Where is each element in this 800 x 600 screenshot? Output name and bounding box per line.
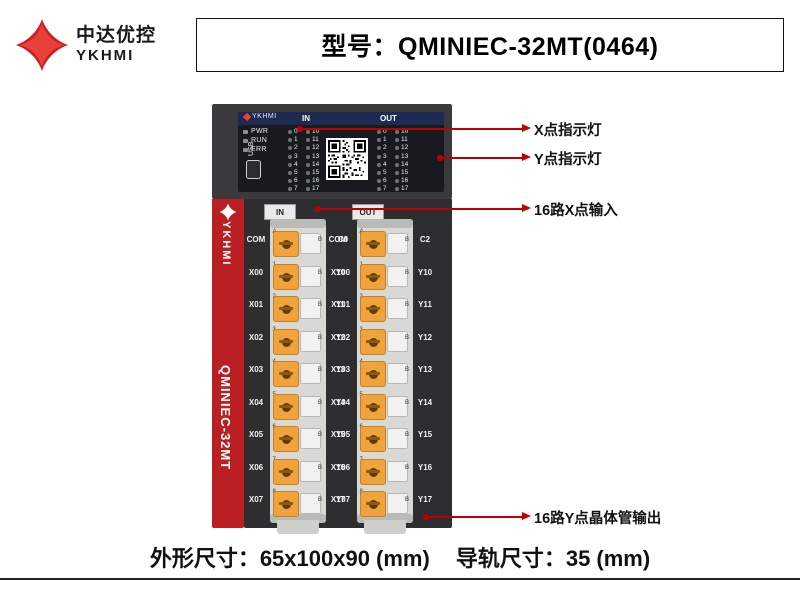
brand-name-cn: 中达优控	[76, 25, 156, 47]
led-indicator-row: 2	[286, 144, 298, 152]
led-number-label: 1	[383, 136, 387, 144]
led-indicator-row: 14	[393, 161, 408, 169]
led-indicator-row: 4	[286, 161, 298, 169]
terminal-screw-icon[interactable]	[360, 426, 386, 452]
led-indicator-row: 7	[286, 185, 298, 193]
led-dot-icon	[306, 146, 310, 150]
terminal-cap-top	[270, 219, 326, 228]
terminal-row[interactable]: AB	[360, 229, 410, 259]
terminal-screw-hole	[369, 468, 378, 477]
led-indicator-row: 3	[375, 153, 387, 161]
terminal-label: Y17	[412, 484, 438, 517]
callout-label: 16路X点输入	[534, 199, 618, 220]
terminal-label: Y05	[330, 419, 356, 452]
footer-divider	[0, 578, 800, 580]
led-number-label: 16	[312, 177, 319, 185]
led-number-label: 13	[312, 153, 319, 161]
terminal-row[interactable]: 1B	[360, 262, 410, 292]
terminal-screw-icon[interactable]	[360, 296, 386, 322]
terminal-row[interactable]: 2B	[360, 294, 410, 324]
led-dot-icon	[395, 163, 399, 167]
terminal-row[interactable]: 3B	[360, 327, 410, 357]
led-dot-icon	[288, 163, 292, 167]
ykhmi-flower-icon	[14, 17, 70, 73]
terminal-screw-icon[interactable]	[273, 426, 299, 452]
column-label-in: IN	[264, 204, 296, 220]
terminal-side-label: B	[318, 465, 322, 471]
terminal-screw-icon[interactable]	[360, 329, 386, 355]
device-red-side-strip: YKHMI QMINIEC-32MT	[212, 199, 244, 528]
terminal-label: X03	[243, 354, 269, 387]
terminal-row[interactable]: 4B	[360, 359, 410, 389]
display-header: YKHMI IN OUT	[238, 112, 444, 125]
led-indicator-row: 11	[304, 136, 319, 144]
callout-line	[318, 208, 522, 210]
led-dot-icon	[395, 130, 399, 134]
terminal-screw-hole	[369, 338, 378, 347]
terminal-screw-hole	[369, 435, 378, 444]
led-number-label: 6	[383, 177, 387, 185]
terminal-label: X02	[243, 322, 269, 355]
terminal-label: X07	[243, 484, 269, 517]
led-indicator-row: 1	[375, 136, 387, 144]
terminal-row[interactable]: 8B	[360, 489, 410, 519]
led-dot-icon	[288, 146, 292, 150]
terminal-label: Y11	[412, 289, 438, 322]
terminal-label: X01	[243, 289, 269, 322]
terminal-label: Y14	[412, 387, 438, 420]
led-dot-icon	[288, 130, 292, 134]
led-dot-icon	[395, 138, 399, 142]
led-number-label: 3	[294, 153, 298, 161]
terminal-side-label: B	[318, 270, 322, 276]
callout-arrow-icon	[522, 124, 531, 132]
terminal-screw-icon[interactable]	[273, 264, 299, 290]
led-number-label: 12	[312, 144, 319, 152]
led-indicator-row: 11	[393, 136, 408, 144]
din-rail-clip	[277, 520, 319, 534]
terminal-screw-hole	[369, 403, 378, 412]
terminal-row[interactable]: 4B	[273, 359, 323, 389]
terminal-screw-icon[interactable]	[273, 329, 299, 355]
led-number-label: 4	[294, 161, 298, 169]
terminal-screw-icon[interactable]	[273, 459, 299, 485]
terminal-screw-icon[interactable]	[273, 394, 299, 420]
callout-arrow-icon	[522, 204, 531, 212]
display-out-label: OUT	[380, 114, 397, 123]
led-indicator-row: 17	[393, 185, 408, 193]
terminal-row[interactable]: 2B	[273, 294, 323, 324]
led-indicator-row: 13	[304, 153, 319, 161]
led-number-label: 14	[401, 161, 408, 169]
input-terminal-labels-left: COMX00X01X02X03X04X05X06X07	[243, 224, 269, 517]
terminal-screw-hole	[282, 500, 291, 509]
terminal-row[interactable]: 7B	[273, 457, 323, 487]
led-number-label: 17	[401, 185, 408, 193]
terminal-screw-hole	[282, 435, 291, 444]
led-dot-icon	[377, 171, 381, 175]
led-dot-icon	[395, 179, 399, 183]
in-led-column-right: 1011121314151617	[304, 128, 319, 194]
qr-code-icon	[326, 138, 368, 180]
footer-rail-dimension: 导轨尺寸：35 (mm)	[456, 541, 650, 573]
terminal-screw-hole	[282, 468, 291, 477]
terminal-screw-hole	[369, 305, 378, 314]
led-dot-icon	[306, 155, 310, 159]
terminal-label: Y02	[330, 322, 356, 355]
terminal-side-label: B	[405, 270, 409, 276]
led-number-label: 6	[294, 177, 298, 185]
usb-label: USB	[248, 142, 255, 156]
terminal-side-label: B	[318, 432, 322, 438]
led-number-label: 11	[401, 136, 408, 144]
terminal-screw-hole	[369, 240, 378, 249]
terminal-screw-icon[interactable]	[360, 394, 386, 420]
terminal-screw-hole	[282, 370, 291, 379]
usb-port-icon	[246, 160, 261, 179]
callout-label: X点指示灯	[534, 119, 602, 140]
led-number-label: 3	[383, 153, 387, 161]
led-number-label: 15	[312, 169, 319, 177]
in-led-column-left: 01234567	[286, 128, 298, 194]
led-indicator-row: 6	[375, 177, 387, 185]
led-dot-icon	[377, 130, 381, 134]
display-in-label: IN	[302, 114, 310, 123]
led-number-label: 11	[312, 136, 319, 144]
terminal-screw-icon[interactable]	[360, 459, 386, 485]
led-dot-icon	[288, 171, 292, 175]
callout-line	[440, 157, 522, 159]
led-indicator-row: 7	[375, 185, 387, 193]
out-led-column-right: 1011121314151617	[393, 128, 408, 194]
terminal-side-label: B	[405, 465, 409, 471]
led-indicator-row: 2	[375, 144, 387, 152]
led-dot-icon	[288, 179, 292, 183]
terminal-label: Y07	[330, 484, 356, 517]
terminal-label: Y13	[412, 354, 438, 387]
led-indicator-row: 3	[286, 153, 298, 161]
column-label-out: OUT	[352, 204, 384, 220]
led-dot-icon	[395, 146, 399, 150]
led-number-label: 2	[383, 144, 387, 152]
led-dot-icon	[306, 187, 310, 191]
display-brand-text: YKHMI	[252, 113, 277, 120]
callout-line	[300, 128, 522, 130]
led-number-label: 14	[312, 161, 319, 169]
terminal-side-label: B	[405, 335, 409, 341]
led-number-label: 2	[294, 144, 298, 152]
terminal-row[interactable]: 3B	[273, 327, 323, 357]
led-number-label: 4	[383, 161, 387, 169]
display-brand: YKHMI	[244, 113, 277, 120]
side-model-text: QMINIEC-32MT	[218, 365, 233, 470]
led-indicator-row: 4	[375, 161, 387, 169]
callout-line	[426, 516, 522, 518]
terminal-screw-hole	[369, 370, 378, 379]
brand-name-en: YKHMI	[76, 47, 156, 64]
terminal-side-label: B	[405, 400, 409, 406]
terminal-label: X06	[243, 452, 269, 485]
led-dot-icon	[377, 179, 381, 183]
terminal-side-label: B	[318, 237, 322, 243]
callout-label: 16路Y点晶体管输出	[534, 507, 661, 528]
led-indicator-row: 14	[304, 161, 319, 169]
output-terminal-labels-left: C0Y00Y01Y02Y03Y04Y05Y06Y07	[330, 224, 356, 517]
pwr-led-label: PWR	[251, 128, 268, 135]
led-dot-icon	[377, 187, 381, 191]
led-indicator-row: 6	[286, 177, 298, 185]
led-number-label: 5	[383, 169, 387, 177]
terminal-label: Y12	[412, 322, 438, 355]
led-indicator-row: 1	[286, 136, 298, 144]
terminal-row[interactable]: 5B	[273, 392, 323, 422]
led-dot-icon	[306, 130, 310, 134]
terminal-label: Y01	[330, 289, 356, 322]
terminal-side-label: B	[405, 237, 409, 243]
terminal-row[interactable]: 5B	[360, 392, 410, 422]
led-indicator-row: 13	[393, 153, 408, 161]
led-number-label: 7	[383, 185, 387, 193]
callout-arrow-icon	[522, 512, 531, 520]
din-rail-clip	[364, 520, 406, 534]
terminal-screw-hole	[282, 403, 291, 412]
led-dot-icon	[377, 155, 381, 159]
terminal-label: C2	[412, 224, 438, 257]
terminal-cap-top	[357, 219, 413, 228]
terminal-screw-hole	[282, 338, 291, 347]
led-indicator-row: 0	[286, 128, 298, 136]
terminal-screw-hole	[369, 273, 378, 282]
input-terminal-block: AB1B2B3B4B5B6B7B8B	[270, 219, 326, 523]
terminal-row[interactable]: 1B	[273, 262, 323, 292]
led-dot-icon	[377, 138, 381, 142]
led-dot-icon	[377, 146, 381, 150]
callout-label: Y点指示灯	[534, 148, 602, 169]
terminal-screw-icon[interactable]	[273, 491, 299, 517]
terminal-label: Y04	[330, 387, 356, 420]
led-number-label: 5	[294, 169, 298, 177]
terminal-row[interactable]: 6B	[360, 424, 410, 454]
led-number-label: 15	[401, 169, 408, 177]
terminal-label: Y00	[330, 257, 356, 290]
terminal-screw-icon[interactable]	[273, 361, 299, 387]
brand-diamond-icon	[243, 112, 251, 120]
terminal-screw-hole	[369, 500, 378, 509]
led-indicator-row: 12	[393, 144, 408, 152]
led-number-label: 17	[312, 185, 319, 193]
model-title-box: 型号：QMINIEC-32MT(0464)	[196, 18, 784, 72]
led-number-label: 13	[401, 153, 408, 161]
led-number-label: 12	[401, 144, 408, 152]
terminal-side-label: B	[318, 367, 322, 373]
terminal-row[interactable]: 7B	[360, 457, 410, 487]
terminal-side-label: B	[318, 497, 322, 503]
terminal-side-label: B	[318, 400, 322, 406]
led-dot-icon	[306, 163, 310, 167]
led-dot-icon	[395, 155, 399, 159]
terminal-screw-icon[interactable]	[360, 361, 386, 387]
terminal-label: X00	[243, 257, 269, 290]
terminal-side-label: B	[318, 335, 322, 341]
footer-dimensions: 外形尺寸：65x100x90 (mm) 导轨尺寸：35 (mm)	[0, 543, 800, 571]
terminal-label: X05	[243, 419, 269, 452]
terminal-screw-icon[interactable]	[360, 491, 386, 517]
terminal-label: Y06	[330, 452, 356, 485]
led-dot-icon	[306, 179, 310, 183]
terminal-row[interactable]: 6B	[273, 424, 323, 454]
terminal-side-label: B	[405, 497, 409, 503]
terminal-screw-hole	[282, 305, 291, 314]
terminal-label: Y03	[330, 354, 356, 387]
led-dot-icon	[377, 163, 381, 167]
led-dot-icon	[288, 155, 292, 159]
brand-logo: 中达优控 YKHMI	[14, 14, 184, 76]
terminal-label: COM	[243, 224, 269, 257]
terminal-screw-icon[interactable]	[273, 231, 299, 257]
terminal-side-label: B	[318, 302, 322, 308]
led-dot-icon	[395, 187, 399, 191]
out-led-column-left: 01234567	[375, 128, 387, 194]
led-indicator-row: 15	[393, 169, 408, 177]
led-dot-icon	[395, 171, 399, 175]
led-number-label: 7	[294, 185, 298, 193]
terminal-screw-hole	[282, 240, 291, 249]
header-bar: 中达优控 YKHMI 型号：QMINIEC-32MT(0464)	[0, 0, 800, 88]
output-terminal-labels-right: C2Y10Y11Y12Y13Y14Y15Y16Y17	[412, 224, 438, 517]
terminal-side-label: B	[405, 302, 409, 308]
terminal-row[interactable]: AB	[273, 229, 323, 259]
led-indicator-row: 5	[286, 169, 298, 177]
led-indicator-row: 15	[304, 169, 319, 177]
led-indicator-row: 16	[393, 177, 408, 185]
plc-device-image: YKHMI IN OUT PWR RUN ERR USB 01234567 10…	[212, 104, 452, 528]
terminal-screw-icon[interactable]	[360, 231, 386, 257]
footer-outer-dimension: 外形尺寸：65x100x90 (mm)	[150, 541, 430, 573]
led-indicator-row: 17	[304, 185, 319, 193]
terminal-label: X04	[243, 387, 269, 420]
terminal-side-label: B	[405, 367, 409, 373]
terminal-row[interactable]: 8B	[273, 489, 323, 519]
terminal-label: Y15	[412, 419, 438, 452]
page-title: 型号：QMINIEC-32MT(0464)	[322, 27, 659, 63]
led-number-label: 1	[294, 136, 298, 144]
side-flower-icon	[219, 203, 237, 221]
callout-arrow-icon	[522, 153, 531, 161]
led-indicator-row: 5	[375, 169, 387, 177]
side-brand-text: YKHMI	[220, 221, 232, 266]
led-number-label: 16	[401, 177, 408, 185]
led-dot-icon	[288, 187, 292, 191]
led-indicator-row: 12	[304, 144, 319, 152]
terminal-label: C0	[330, 224, 356, 257]
led-dot-icon	[306, 138, 310, 142]
terminal-screw-hole	[282, 273, 291, 282]
pwr-led-icon	[243, 130, 248, 134]
led-indicator-row: 16	[304, 177, 319, 185]
led-dot-icon	[306, 171, 310, 175]
terminal-label: Y16	[412, 452, 438, 485]
led-dot-icon	[288, 138, 292, 142]
status-led-row: PWR	[243, 127, 279, 136]
terminal-label: Y10	[412, 257, 438, 290]
terminal-screw-icon[interactable]	[273, 296, 299, 322]
terminal-side-label: B	[405, 432, 409, 438]
terminal-screw-icon[interactable]	[360, 264, 386, 290]
output-terminal-block: AB1B2B3B4B5B6B7B8B	[357, 219, 413, 523]
status-display-panel: YKHMI IN OUT PWR RUN ERR USB 01234567 10…	[238, 112, 444, 192]
